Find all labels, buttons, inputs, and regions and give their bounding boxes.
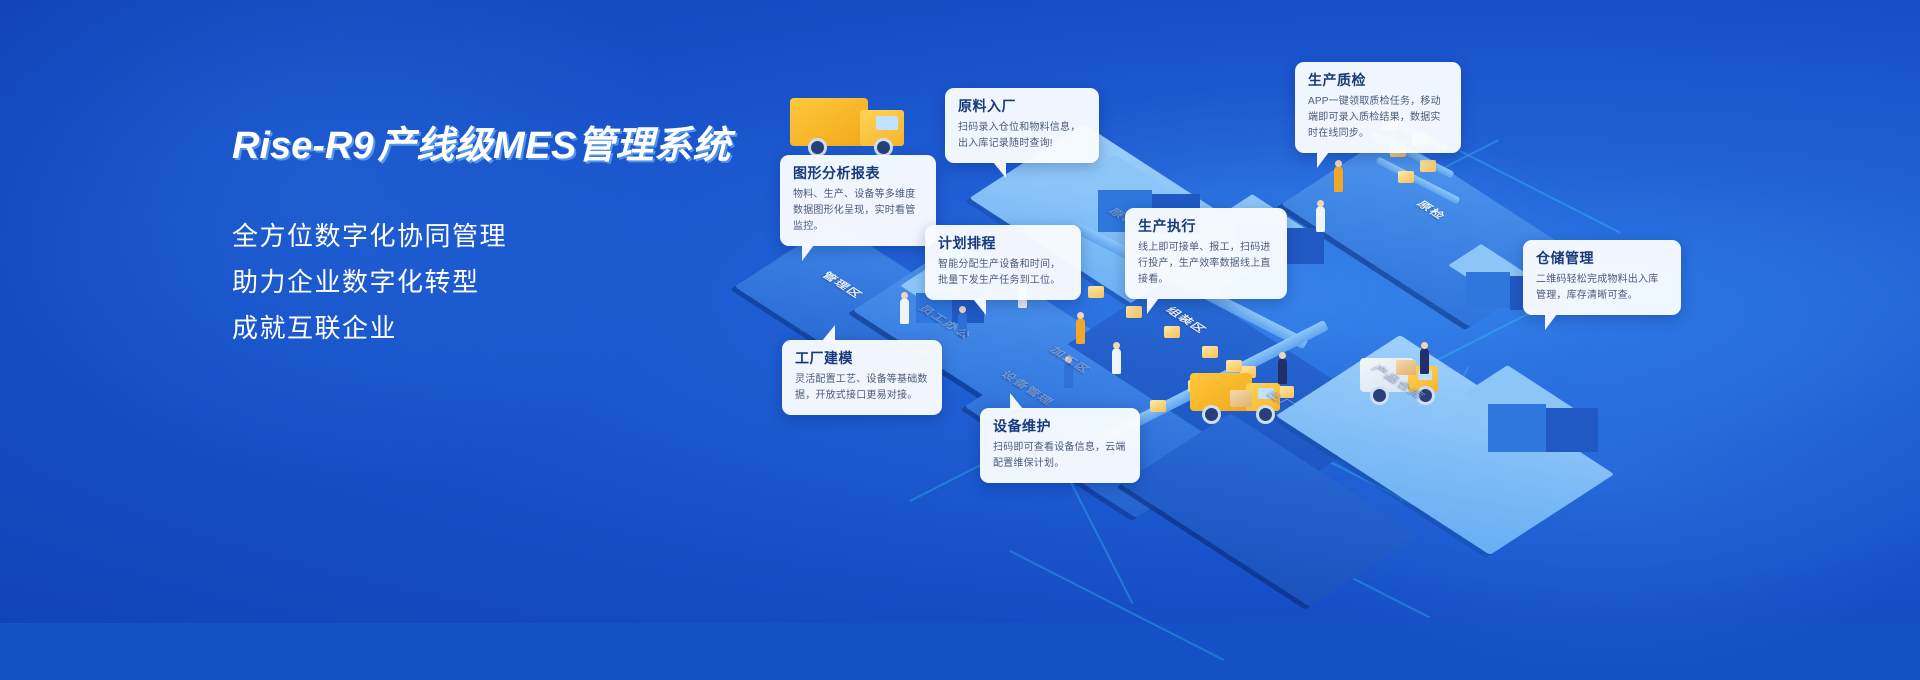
headline-product-desc: 产线级MES管理系统 [378,125,731,167]
callout-production-execution[interactable]: 生产执行 线上即可接单、报工，扫码进行投产，生产效率数据线上直接看。 [1125,208,1287,299]
callout-title: 生产执行 [1138,218,1274,235]
callout-factory-modeling[interactable]: 工厂建模 灵活配置工艺、设备等基础数据，开放式接口更易对接。 [782,340,942,415]
tagline-line-3: 成就互联企业 [232,305,852,351]
callout-graphic-analysis-report[interactable]: 图形分析报表 物料、生产、设备等多维度数据图形化呈现，实时看管监控。 [780,155,936,246]
callout-title: 仓储管理 [1536,250,1668,267]
worker-line-b [1112,348,1121,374]
worker-assembly-b [1076,318,1085,344]
callout-tail [1147,298,1159,314]
callout-equipment-maintenance[interactable]: 设备维护 扫码即可查看设备信息，云端配置维保计划。 [980,408,1140,483]
headline-product-name: Rise-R9 [232,125,374,167]
callout-body: 线上即可接单、报工，扫码进行投产，生产效率数据线上直接看。 [1138,240,1274,289]
hero-copy: Rise-R9产线级MES管理系统 全方位数字化协同管理 助力企业数字化转型 成… [232,124,852,352]
worker-quality [1316,206,1325,232]
callout-production-quality-inspection[interactable]: 生产质检 APP一键领取质检任务，移动端即可录入质检结果，数据实时在线同步。 [1295,62,1461,153]
callout-tail [1010,393,1023,409]
callout-title: 设备维护 [993,418,1127,435]
crate-cargo-a [1230,390,1252,407]
worker-shipping [1420,348,1429,374]
callout-body: 灵活配置工艺、设备等基础数据，开放式接口更易对接。 [795,372,929,404]
mes-hero-banner: Rise-R9产线级MES管理系统 全方位数字化协同管理 助力企业数字化转型 成… [0,0,1920,623]
callout-body: 扫码录入仓位和物料信息，出入库记录随时查询! [958,120,1086,152]
callout-planning-scheduling[interactable]: 计划排程 智能分配生产设备和时间，批量下发生产任务到工位。 [925,225,1081,300]
callout-title: 工厂建模 [795,350,929,367]
callout-title: 生产质检 [1308,72,1448,89]
callout-body: 扫码即可查看设备信息，云端配置维保计划。 [993,440,1127,472]
worker-office [900,298,909,324]
worker-warehouse [1278,358,1287,384]
callout-body: 二维码轻松完成物料出入库管理，库存清晰可查。 [1536,272,1668,304]
callout-title: 计划排程 [938,235,1068,252]
callout-tail [1317,152,1329,168]
callout-tail [1545,314,1557,330]
callout-title: 原料入厂 [958,98,1086,115]
callout-title: 图形分析报表 [793,165,923,182]
callout-tail [802,245,814,261]
worker-inspection [1334,166,1343,192]
callout-raw-material-inbound[interactable]: 原料入厂 扫码录入仓位和物料信息，出入库记录随时查询! [945,88,1099,163]
callout-body: APP一键领取质检任务，移动端即可录入质检结果，数据实时在线同步。 [1308,94,1448,143]
page-title: Rise-R9产线级MES管理系统 [232,124,852,169]
callout-body: 智能分配生产设备和时间，批量下发生产任务到工位。 [938,257,1068,289]
callout-body: 物料、生产、设备等多维度数据图形化呈现，实时看管监控。 [793,187,923,236]
tagline-line-1: 全方位数字化协同管理 [232,213,852,259]
callout-warehouse-management[interactable]: 仓储管理 二维码轻松完成物料出入库管理，库存清晰可查。 [1523,240,1681,315]
callout-tail [822,325,835,341]
callout-tail [973,299,986,315]
callout-tail [993,162,1006,178]
